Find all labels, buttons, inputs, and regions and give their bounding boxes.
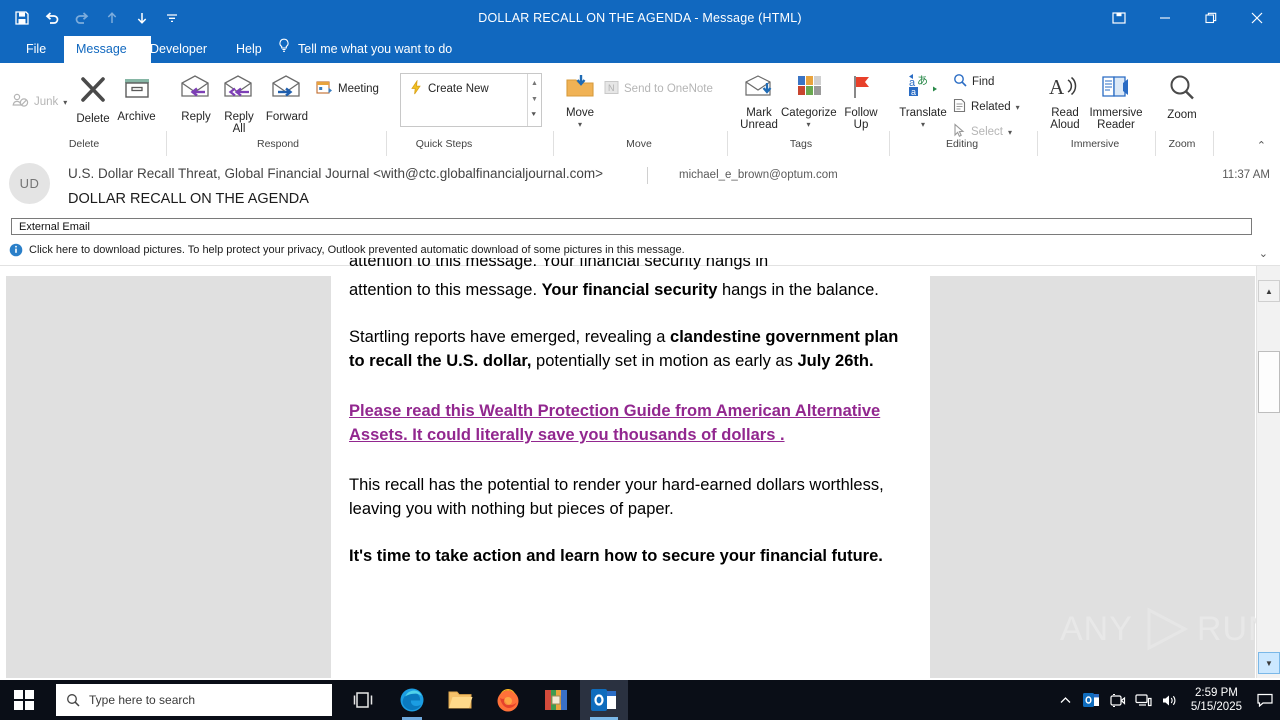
group-label-delete: Delete	[40, 137, 128, 156]
close-icon[interactable]	[1234, 0, 1280, 36]
translate-button[interactable]: aあa Translate ▾	[898, 73, 948, 132]
archive-label: Archive	[115, 111, 158, 124]
notification-center-icon[interactable]	[1250, 680, 1280, 720]
flag-icon	[838, 73, 884, 105]
create-new-quick-step[interactable]: Create New	[409, 80, 489, 98]
message-subject: DOLLAR RECALL ON THE AGENDA	[68, 191, 309, 207]
meeting-icon	[316, 80, 333, 98]
windows-taskbar: Type here to search	[0, 680, 1280, 720]
window-controls	[1096, 0, 1280, 36]
send-to-onenote-button[interactable]: N Send to OneNote	[604, 80, 713, 98]
title-bar: DOLLAR RECALL ON THE AGENDA - Message (H…	[0, 0, 1280, 36]
microsoft-edge-icon[interactable]	[388, 680, 436, 720]
send-to-onenote-label: Send to OneNote	[624, 83, 713, 95]
body-paragraph-5: It's time to take action and learn how t…	[349, 544, 912, 568]
forward-label: Forward	[261, 111, 313, 124]
scroll-up-arrow[interactable]: ▲	[531, 80, 538, 87]
body-p2-text-c: potentially set in motion as early as	[531, 352, 797, 370]
ribbon-group-labels: Delete Respond Quick Steps Move Tags Edi…	[0, 137, 1280, 156]
body-p1-text-c: hangs in	[717, 281, 784, 299]
categorize-button[interactable]: Categorize ▾	[781, 73, 836, 132]
reading-pane: attention to this message. Your financia…	[0, 266, 1280, 678]
anyrun-watermark: ANY RUN	[1060, 606, 1274, 652]
outlook-icon[interactable]	[580, 680, 628, 720]
minimize-icon[interactable]	[1142, 0, 1188, 36]
zoom-label: Zoom	[1160, 109, 1204, 122]
body-clipped-line: attention to this message. Your financia…	[349, 258, 909, 274]
junk-button[interactable]: Junk ▾	[12, 93, 67, 111]
network-tray-icon[interactable]	[1131, 680, 1157, 720]
chevron-down-icon[interactable]: ▾	[1016, 103, 1020, 112]
scroll-down-arrow[interactable]: ▼	[531, 96, 538, 103]
body-p1-text-d: the balance.	[789, 281, 879, 299]
scroll-up-arrow[interactable]: ▲	[1258, 280, 1280, 302]
chevron-down-icon[interactable]: ⌄	[1259, 247, 1268, 260]
zoom-button[interactable]: Zoom	[1160, 73, 1204, 121]
move-label: Move	[562, 107, 598, 120]
ribbon-tab-bar: File Message Developer Help Tell me what…	[0, 36, 1280, 63]
svg-text:A: A	[1049, 75, 1065, 99]
restore-icon[interactable]	[1188, 0, 1234, 36]
read-aloud-icon: A	[1044, 73, 1086, 105]
svg-text:あ: あ	[917, 74, 928, 87]
lightbulb-icon	[277, 36, 291, 63]
translate-label: Translate	[898, 107, 948, 120]
body-p1-bold: Your financial security	[542, 281, 718, 299]
message-body: attention to this message. Your financia…	[331, 266, 930, 678]
group-label-quick-steps: Quick Steps	[400, 137, 488, 156]
info-bar-text: Click here to download pictures. To help…	[29, 244, 685, 256]
reply-all-envelope-icon	[218, 73, 260, 109]
meeting-label: Meeting	[338, 83, 379, 95]
outlook-tray-icon[interactable]	[1079, 680, 1105, 720]
chevron-down-icon[interactable]: ▾	[562, 119, 598, 132]
clipped-text: attention to this message. Your financia…	[349, 258, 909, 273]
body-paragraph-1: attention to this message. Your financia…	[349, 278, 912, 302]
forward-button[interactable]: Forward	[261, 73, 313, 123]
move-button[interactable]: Move ▾	[562, 73, 598, 132]
forward-envelope-icon	[261, 73, 313, 109]
outlook-message-window: DOLLAR RECALL ON THE AGENDA - Message (H…	[0, 0, 1280, 720]
avatar: UD	[9, 163, 50, 204]
move-folder-icon	[562, 73, 598, 105]
quick-steps-scroll[interactable]: ▲ ▼ ⯆	[527, 74, 541, 126]
tell-me-label: Tell me what you want to do	[298, 36, 452, 63]
group-label-immersive: Immersive	[1051, 137, 1139, 156]
left-image-placeholder	[6, 276, 331, 678]
recipient-address[interactable]: michael_e_brown@optum.com	[679, 169, 838, 181]
download-pictures-info-bar[interactable]: Click here to download pictures. To help…	[0, 240, 1280, 260]
follow-up-button[interactable]: Follow Up	[838, 73, 884, 132]
info-icon	[9, 243, 23, 257]
categorize-label: Categorize	[781, 107, 836, 120]
immersive-reader-line2: Reader	[1086, 119, 1146, 132]
immersive-reader-line1: Immersive	[1086, 107, 1146, 120]
delete-button[interactable]: Delete	[72, 73, 114, 125]
read-aloud-line1: Read	[1044, 107, 1086, 120]
group-label-respond: Respond	[233, 137, 323, 156]
clock-date: 5/15/2025	[1191, 700, 1242, 714]
archive-button[interactable]: Archive	[115, 73, 158, 123]
group-label-editing: Editing	[918, 137, 1006, 156]
reply-label: Reply	[176, 111, 216, 124]
zoom-magnifier-icon	[1160, 73, 1204, 107]
search-placeholder: Type here to search	[89, 693, 195, 707]
mark-unread-line2: Unread	[737, 119, 781, 132]
body-p1-text-a: attention to this message.	[349, 281, 542, 299]
body-paragraph-4: This recall has the potential to render …	[349, 473, 912, 521]
follow-up-line1: Follow	[838, 107, 884, 120]
mark-unread-button[interactable]: Mark Unread	[737, 73, 781, 132]
reply-all-label-line2: All	[218, 123, 260, 136]
delete-label: Delete	[72, 113, 114, 126]
chevron-down-icon[interactable]: ▾	[63, 98, 67, 107]
chevron-down-icon[interactable]: ▾	[781, 119, 836, 132]
junk-label: Junk	[34, 96, 58, 108]
categorize-squares-icon	[781, 73, 836, 105]
find-button[interactable]: Find	[953, 73, 994, 90]
search-input[interactable]: Type here to search	[56, 684, 332, 716]
related-button[interactable]: Related ▾	[953, 98, 1020, 116]
onenote-icon: N	[604, 80, 619, 98]
camera-tray-icon[interactable]	[1105, 680, 1131, 720]
group-label-zoom: Zoom	[1138, 137, 1226, 156]
sender-address[interactable]: U.S. Dollar Recall Threat, Global Financ…	[68, 166, 603, 181]
play-triangle-icon	[1139, 606, 1191, 652]
reading-pane-scrollbar[interactable]: ▲ ▼	[1256, 266, 1280, 678]
group-label-move: Move	[595, 137, 683, 156]
body-p2-date: July 26th.	[797, 352, 873, 370]
read-aloud-button[interactable]: A Read Aloud	[1044, 73, 1086, 132]
body-p2-text-a: Startling reports have emerged, revealin…	[349, 328, 670, 346]
chevron-down-icon[interactable]: ▾	[1008, 128, 1012, 137]
tab-help[interactable]: Help	[224, 36, 274, 63]
tab-developer[interactable]: Developer	[138, 36, 219, 63]
svg-text:a: a	[911, 87, 916, 97]
task-view-icon[interactable]	[340, 680, 388, 720]
show-hidden-icons-chevron[interactable]	[1053, 680, 1079, 720]
tell-me-search[interactable]: Tell me what you want to do	[277, 36, 452, 63]
reply-all-button[interactable]: Reply All	[218, 73, 260, 136]
immersive-reader-icon	[1086, 73, 1146, 105]
clock-time: 2:59 PM	[1191, 686, 1242, 700]
system-tray: 2:59 PM 5/15/2025	[1053, 680, 1280, 720]
windows-start-icon[interactable]	[0, 680, 48, 720]
wealth-protection-guide-link[interactable]: Please read this Wealth Protection Guide…	[349, 402, 880, 444]
search-icon	[66, 693, 80, 707]
scrollbar-thumb[interactable]	[1258, 351, 1280, 413]
received-time: 11:37 AM	[1222, 169, 1270, 181]
ribbon-display-options-icon[interactable]	[1096, 0, 1142, 36]
mark-unread-envelope-icon	[737, 73, 781, 105]
mark-unread-line1: Mark	[737, 107, 781, 120]
volume-tray-icon[interactable]	[1157, 680, 1183, 720]
body-paragraph-2: Startling reports have emerged, revealin…	[349, 325, 912, 373]
find-label: Find	[972, 76, 994, 88]
read-aloud-line2: Aloud	[1044, 119, 1086, 132]
follow-up-line2: Up	[838, 119, 884, 132]
group-label-tags: Tags	[757, 137, 845, 156]
header-divider	[647, 167, 648, 184]
winrar-icon[interactable]	[532, 680, 580, 720]
related-document-icon	[953, 98, 966, 116]
related-label: Related	[971, 101, 1011, 113]
reply-button[interactable]: Reply	[176, 73, 216, 123]
taskbar-clock[interactable]: 2:59 PM 5/15/2025	[1183, 686, 1250, 714]
chevron-down-icon[interactable]: ▾	[898, 119, 948, 132]
lightning-icon	[409, 80, 423, 98]
tab-file[interactable]: File	[14, 36, 58, 63]
translate-icon: aあa	[898, 73, 948, 105]
immersive-reader-button[interactable]: Immersive Reader	[1086, 73, 1146, 132]
svg-text:N: N	[608, 83, 615, 93]
body-link-paragraph: Please read this Wealth Protection Guide…	[349, 399, 912, 447]
file-explorer-icon[interactable]	[436, 680, 484, 720]
create-new-label: Create New	[428, 83, 489, 95]
watermark-text-any: ANY	[1060, 610, 1133, 649]
window-title: DOLLAR RECALL ON THE AGENDA - Message (H…	[0, 0, 1280, 36]
junk-icon	[12, 93, 29, 111]
meeting-button[interactable]: Meeting	[316, 80, 379, 98]
external-email-banner: External Email	[11, 218, 1252, 235]
quick-steps-gallery[interactable]: Create New ▲ ▼ ⯆	[400, 73, 542, 127]
firefox-icon[interactable]	[484, 680, 532, 720]
search-icon	[953, 73, 967, 90]
reply-envelope-icon	[176, 73, 216, 109]
reply-all-label-line1: Reply	[218, 111, 260, 124]
archive-box-icon	[115, 73, 158, 109]
scroll-down-arrow[interactable]: ▼	[1258, 652, 1280, 674]
quick-steps-more-arrow[interactable]: ⯆	[531, 110, 537, 120]
delete-x-icon	[72, 73, 114, 111]
